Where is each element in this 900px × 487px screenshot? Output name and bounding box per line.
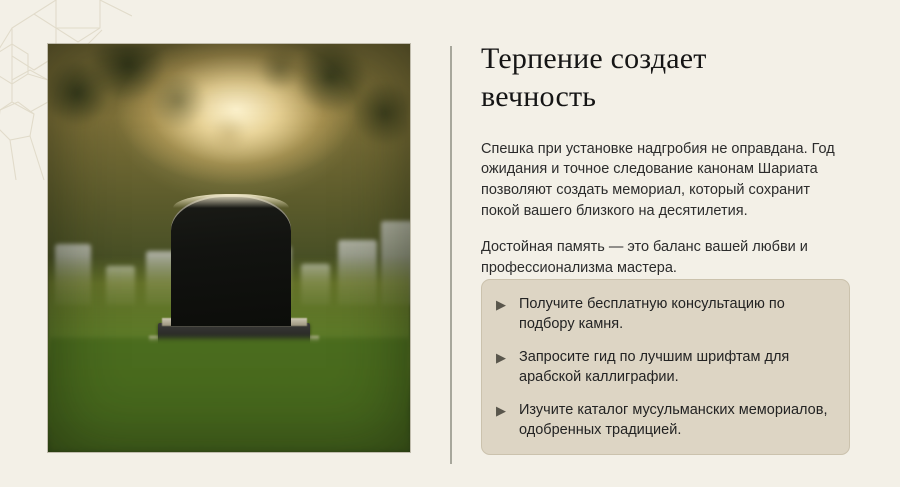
list-item-label: Запросите гид по лучшим шрифтам для араб… [519, 348, 831, 387]
photo-vignette [48, 44, 410, 452]
page-title: Терпение создает вечность [481, 40, 781, 117]
list-item[interactable]: ▶ Запросите гид по лучшим шрифтам для ар… [496, 348, 831, 387]
list-item-label: Получите бесплатную консультацию по подб… [519, 295, 831, 334]
body-paragraph-1: Спешка при установке надгробия не оправд… [481, 139, 849, 221]
body-paragraph-2: Достойная память — это баланс вашей любв… [481, 237, 849, 278]
triangle-bullet-icon: ▶ [496, 403, 508, 420]
call-to-action-card: ▶ Получите бесплатную консультацию по по… [481, 279, 850, 455]
list-item[interactable]: ▶ Получите бесплатную консультацию по по… [496, 295, 831, 334]
column-divider [450, 46, 452, 464]
list-item-label: Изучите каталог мусульманских мемориалов… [519, 401, 831, 440]
text-column: Терпение создает вечность Спешка при уст… [481, 40, 853, 298]
memorial-photo [48, 44, 410, 452]
slide-root: Терпение создает вечность Спешка при уст… [0, 0, 900, 487]
list-item[interactable]: ▶ Изучите каталог мусульманских мемориал… [496, 401, 831, 440]
triangle-bullet-icon: ▶ [496, 350, 508, 367]
triangle-bullet-icon: ▶ [496, 297, 508, 314]
